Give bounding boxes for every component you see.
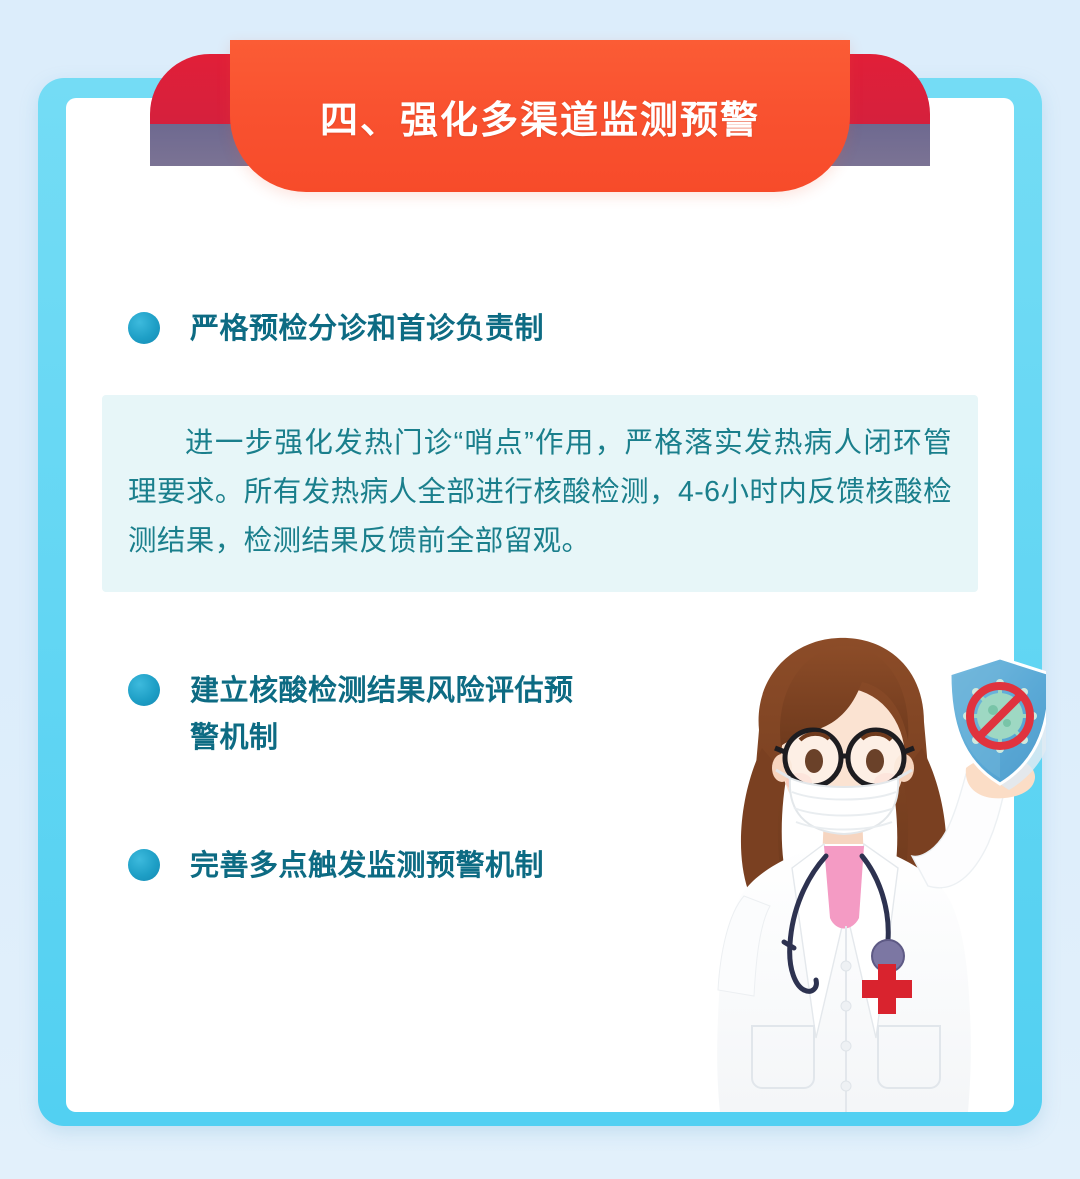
bullet-item-3: 完善多点触发监测预警机制	[128, 843, 544, 890]
eye-right	[866, 749, 884, 773]
paragraph-text: 进一步强化发热门诊“哨点”作用，严格落实发热病人闭环管理要求。所有发热病人全部进…	[128, 419, 952, 566]
virus-shield-icon	[950, 658, 1046, 790]
doctor-illustration	[666, 618, 1046, 1112]
bullet-label-3: 完善多点触发监测预警机制	[190, 843, 544, 890]
bullet-item-2: 建立核酸检测结果风险评估预警机制	[128, 668, 590, 762]
bullet-dot-icon	[128, 312, 160, 344]
bullet-label-2: 建立核酸检测结果风险评估预警机制	[190, 668, 590, 762]
bullet-label-1: 严格预检分诊和首诊负责制	[190, 306, 544, 353]
bullet-dot-icon	[128, 849, 160, 881]
eye-left	[805, 749, 823, 773]
content-area: 严格预检分诊和首诊负责制 进一步强化发热门诊“哨点”作用，严格落实发热病人闭环管…	[66, 98, 1014, 1112]
bullet-dot-icon	[128, 674, 160, 706]
callout-box: 进一步强化发热门诊“哨点”作用，严格落实发热病人闭环管理要求。所有发热病人全部进…	[102, 395, 978, 592]
bullet-item-1: 严格预检分诊和首诊负责制	[128, 306, 544, 353]
